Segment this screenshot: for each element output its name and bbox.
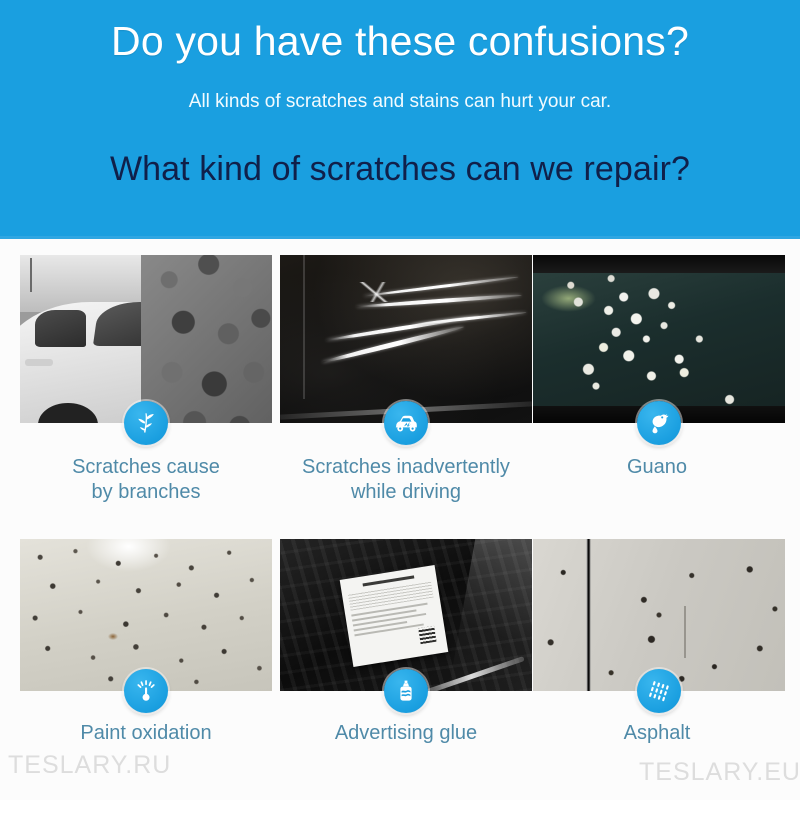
- glue-bottle-icon: [384, 669, 428, 713]
- grid-cell-driving-scratches: Scratches inadvertently while driving: [280, 255, 532, 535]
- caption-line-2: by branches: [92, 481, 201, 503]
- caption-line-1: Advertising glue: [335, 722, 477, 744]
- caption-line-1: Scratches inadvertently: [302, 456, 510, 478]
- dark-car-door-with-scratches-photo: [280, 255, 532, 423]
- grid-cell-advertising-glue: Advertising glue: [280, 539, 532, 819]
- asphalt-hatch-icon: [637, 669, 681, 713]
- thermometer-sun-icon: [124, 669, 168, 713]
- caption-advertising-glue: Advertising glue: [262, 721, 550, 746]
- caption-paint-oxidation: Paint oxidation: [0, 721, 292, 746]
- caption-guano: Guano: [511, 455, 800, 480]
- caption-line-1: Scratches cause: [72, 456, 220, 478]
- grid-cell-asphalt: Asphalt: [533, 539, 785, 819]
- caption-line-1: Paint oxidation: [80, 722, 211, 744]
- caption-branches: Scratches cause by branches: [0, 455, 292, 505]
- scratched-car-icon: [384, 401, 428, 445]
- white-car-beside-branches-photo: [20, 255, 272, 423]
- caption-asphalt: Asphalt: [511, 721, 800, 746]
- bird-droplet-icon: [637, 401, 681, 445]
- banner-title: Do you have these confusions?: [0, 18, 800, 65]
- problem-grid: Scratches cause by branches: [0, 239, 800, 800]
- header-banner: Do you have these confusions? All kinds …: [0, 0, 800, 239]
- grid-cell-guano: Guano: [533, 255, 785, 535]
- grid-cell-branches: Scratches cause by branches: [20, 255, 272, 535]
- banner-subtitle: All kinds of scratches and stains can hu…: [0, 91, 800, 113]
- grid-row: Scratches cause by branches: [0, 255, 800, 535]
- banner-question: What kind of scratches can we repair?: [0, 150, 800, 189]
- caption-line-2: while driving: [351, 481, 461, 503]
- caption-driving-scratches: Scratches inadvertently while driving: [262, 455, 550, 505]
- promo-infographic: Do you have these confusions? All kinds …: [0, 0, 800, 800]
- grid-row: Paint oxidation: [0, 539, 800, 819]
- caption-line-1: Guano: [627, 456, 687, 478]
- windshield-with-bird-droppings-photo: [533, 255, 785, 423]
- branch-leaf-icon: [124, 401, 168, 445]
- grid-cell-paint-oxidation: Paint oxidation: [20, 539, 272, 819]
- caption-line-1: Asphalt: [624, 722, 691, 744]
